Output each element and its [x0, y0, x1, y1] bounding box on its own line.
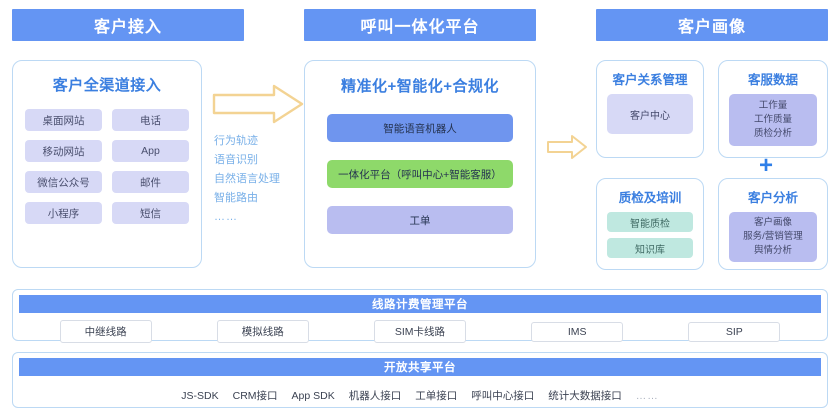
capability-item: 自然语言处理	[214, 170, 300, 189]
open-api-row: JS-SDK CRM接口 App SDK 机器人接口 工单接口 呼叫中心接口 统…	[13, 388, 827, 403]
open-api-item[interactable]: 工单接口	[415, 388, 457, 403]
panel-title-quality: 质检及培训	[597, 187, 703, 206]
panel-omnichannel-access: 客户全渠道接入 桌面网站 电话 移动网站 App 微信公众号 邮件 小程序 短信	[12, 60, 202, 268]
bar-header-open-share: 开放共享平台	[19, 358, 821, 376]
panel-integrated-platform: 精准化+智能化+合规化 智能语音机器人 一体化平台（呼叫中心+智能客服） 工单	[304, 60, 536, 268]
analysis-item[interactable]: 舆情分析	[729, 244, 817, 258]
channel-chip[interactable]: App	[112, 140, 189, 162]
line-chip-row: 中继线路 模拟线路 SIM卡线路 IMS SIP	[13, 320, 827, 343]
line-chip[interactable]: SIP	[688, 322, 780, 342]
crm-item[interactable]: 客户中心	[607, 94, 693, 134]
platform-box-voice-robot[interactable]: 智能语音机器人	[327, 114, 513, 142]
column-header-customer-profile: 客户画像	[596, 9, 828, 41]
line-chip[interactable]: IMS	[531, 322, 623, 342]
panel-title-integrated: 精准化+智能化+合规化	[305, 75, 535, 96]
open-api-item[interactable]: App SDK	[292, 390, 335, 402]
panel-title-analysis: 客户分析	[719, 187, 827, 206]
panel-customer-analysis: 客户分析 客户画像 服务/营销管理 舆情分析	[718, 178, 828, 270]
channel-chip[interactable]: 移动网站	[25, 140, 102, 162]
channel-chip-grid: 桌面网站 电话 移动网站 App 微信公众号 邮件 小程序 短信	[13, 95, 201, 224]
panel-quality-training: 质检及培训 智能质检 知识库	[596, 178, 704, 270]
open-api-item[interactable]: 机器人接口	[349, 388, 402, 403]
quality-item[interactable]: 智能质检	[607, 212, 693, 232]
line-chip[interactable]: 中继线路	[60, 320, 152, 343]
channel-chip[interactable]: 邮件	[112, 171, 189, 193]
platform-box-work-order[interactable]: 工单	[327, 206, 513, 234]
capability-item: 行为轨迹	[214, 132, 300, 151]
channel-chip[interactable]: 小程序	[25, 202, 102, 224]
middle-capability-list: 行为轨迹 语音识别 自然语言处理 智能路由 ……	[214, 132, 300, 227]
channel-chip[interactable]: 桌面网站	[25, 109, 102, 131]
architecture-diagram: 客户接入 呼叫一体化平台 客户画像 客户全渠道接入 桌面网站 电话 移动网站 A…	[0, 0, 840, 420]
arrow-right-icon	[212, 84, 304, 124]
channel-chip[interactable]: 短信	[112, 202, 189, 224]
panel-title-crm: 客户关系管理	[597, 69, 703, 88]
panel-crm: 客户关系管理 客户中心	[596, 60, 704, 158]
capability-ellipsis: ……	[214, 208, 300, 227]
quality-item[interactable]: 知识库	[607, 238, 693, 258]
analysis-item[interactable]: 客户画像	[729, 216, 817, 230]
analysis-item[interactable]: 服务/营销管理	[729, 230, 817, 244]
line-chip[interactable]: 模拟线路	[217, 320, 309, 343]
open-api-item[interactable]: CRM接口	[233, 388, 278, 403]
line-chip[interactable]: SIM卡线路	[374, 320, 466, 343]
bar-header-line-billing: 线路计费管理平台	[19, 295, 821, 313]
service-data-item[interactable]: 工作量	[729, 99, 817, 113]
capability-item: 智能路由	[214, 189, 300, 208]
open-api-item[interactable]: 呼叫中心接口	[471, 388, 534, 403]
bar-open-share-platform: 开放共享平台 JS-SDK CRM接口 App SDK 机器人接口 工单接口 呼…	[12, 352, 828, 408]
panel-title-service-data: 客服数据	[719, 69, 827, 88]
capability-item: 语音识别	[214, 151, 300, 170]
service-data-item[interactable]: 工作质量	[729, 113, 817, 127]
analysis-list: 客户画像 服务/营销管理 舆情分析	[729, 212, 817, 262]
column-header-call-platform: 呼叫一体化平台	[304, 9, 536, 41]
panel-service-data: 客服数据 工作量 工作质量 质检分析	[718, 60, 828, 158]
column-header-customer-access: 客户接入	[12, 9, 244, 41]
service-data-item[interactable]: 质检分析	[729, 127, 817, 141]
arrow-right-icon	[546, 134, 588, 160]
platform-box-unified-platform[interactable]: 一体化平台（呼叫中心+智能客服）	[327, 160, 513, 188]
open-api-ellipsis: ……	[636, 390, 659, 402]
panel-title-omnichannel: 客户全渠道接入	[13, 74, 201, 95]
open-api-item[interactable]: JS-SDK	[181, 390, 218, 402]
channel-chip[interactable]: 电话	[112, 109, 189, 131]
plus-icon: +	[757, 157, 775, 175]
channel-chip[interactable]: 微信公众号	[25, 171, 102, 193]
open-api-item[interactable]: 统计大数据接口	[548, 388, 622, 403]
bar-line-billing-platform: 线路计费管理平台 中继线路 模拟线路 SIM卡线路 IMS SIP	[12, 289, 828, 341]
service-data-list: 工作量 工作质量 质检分析	[729, 94, 817, 146]
